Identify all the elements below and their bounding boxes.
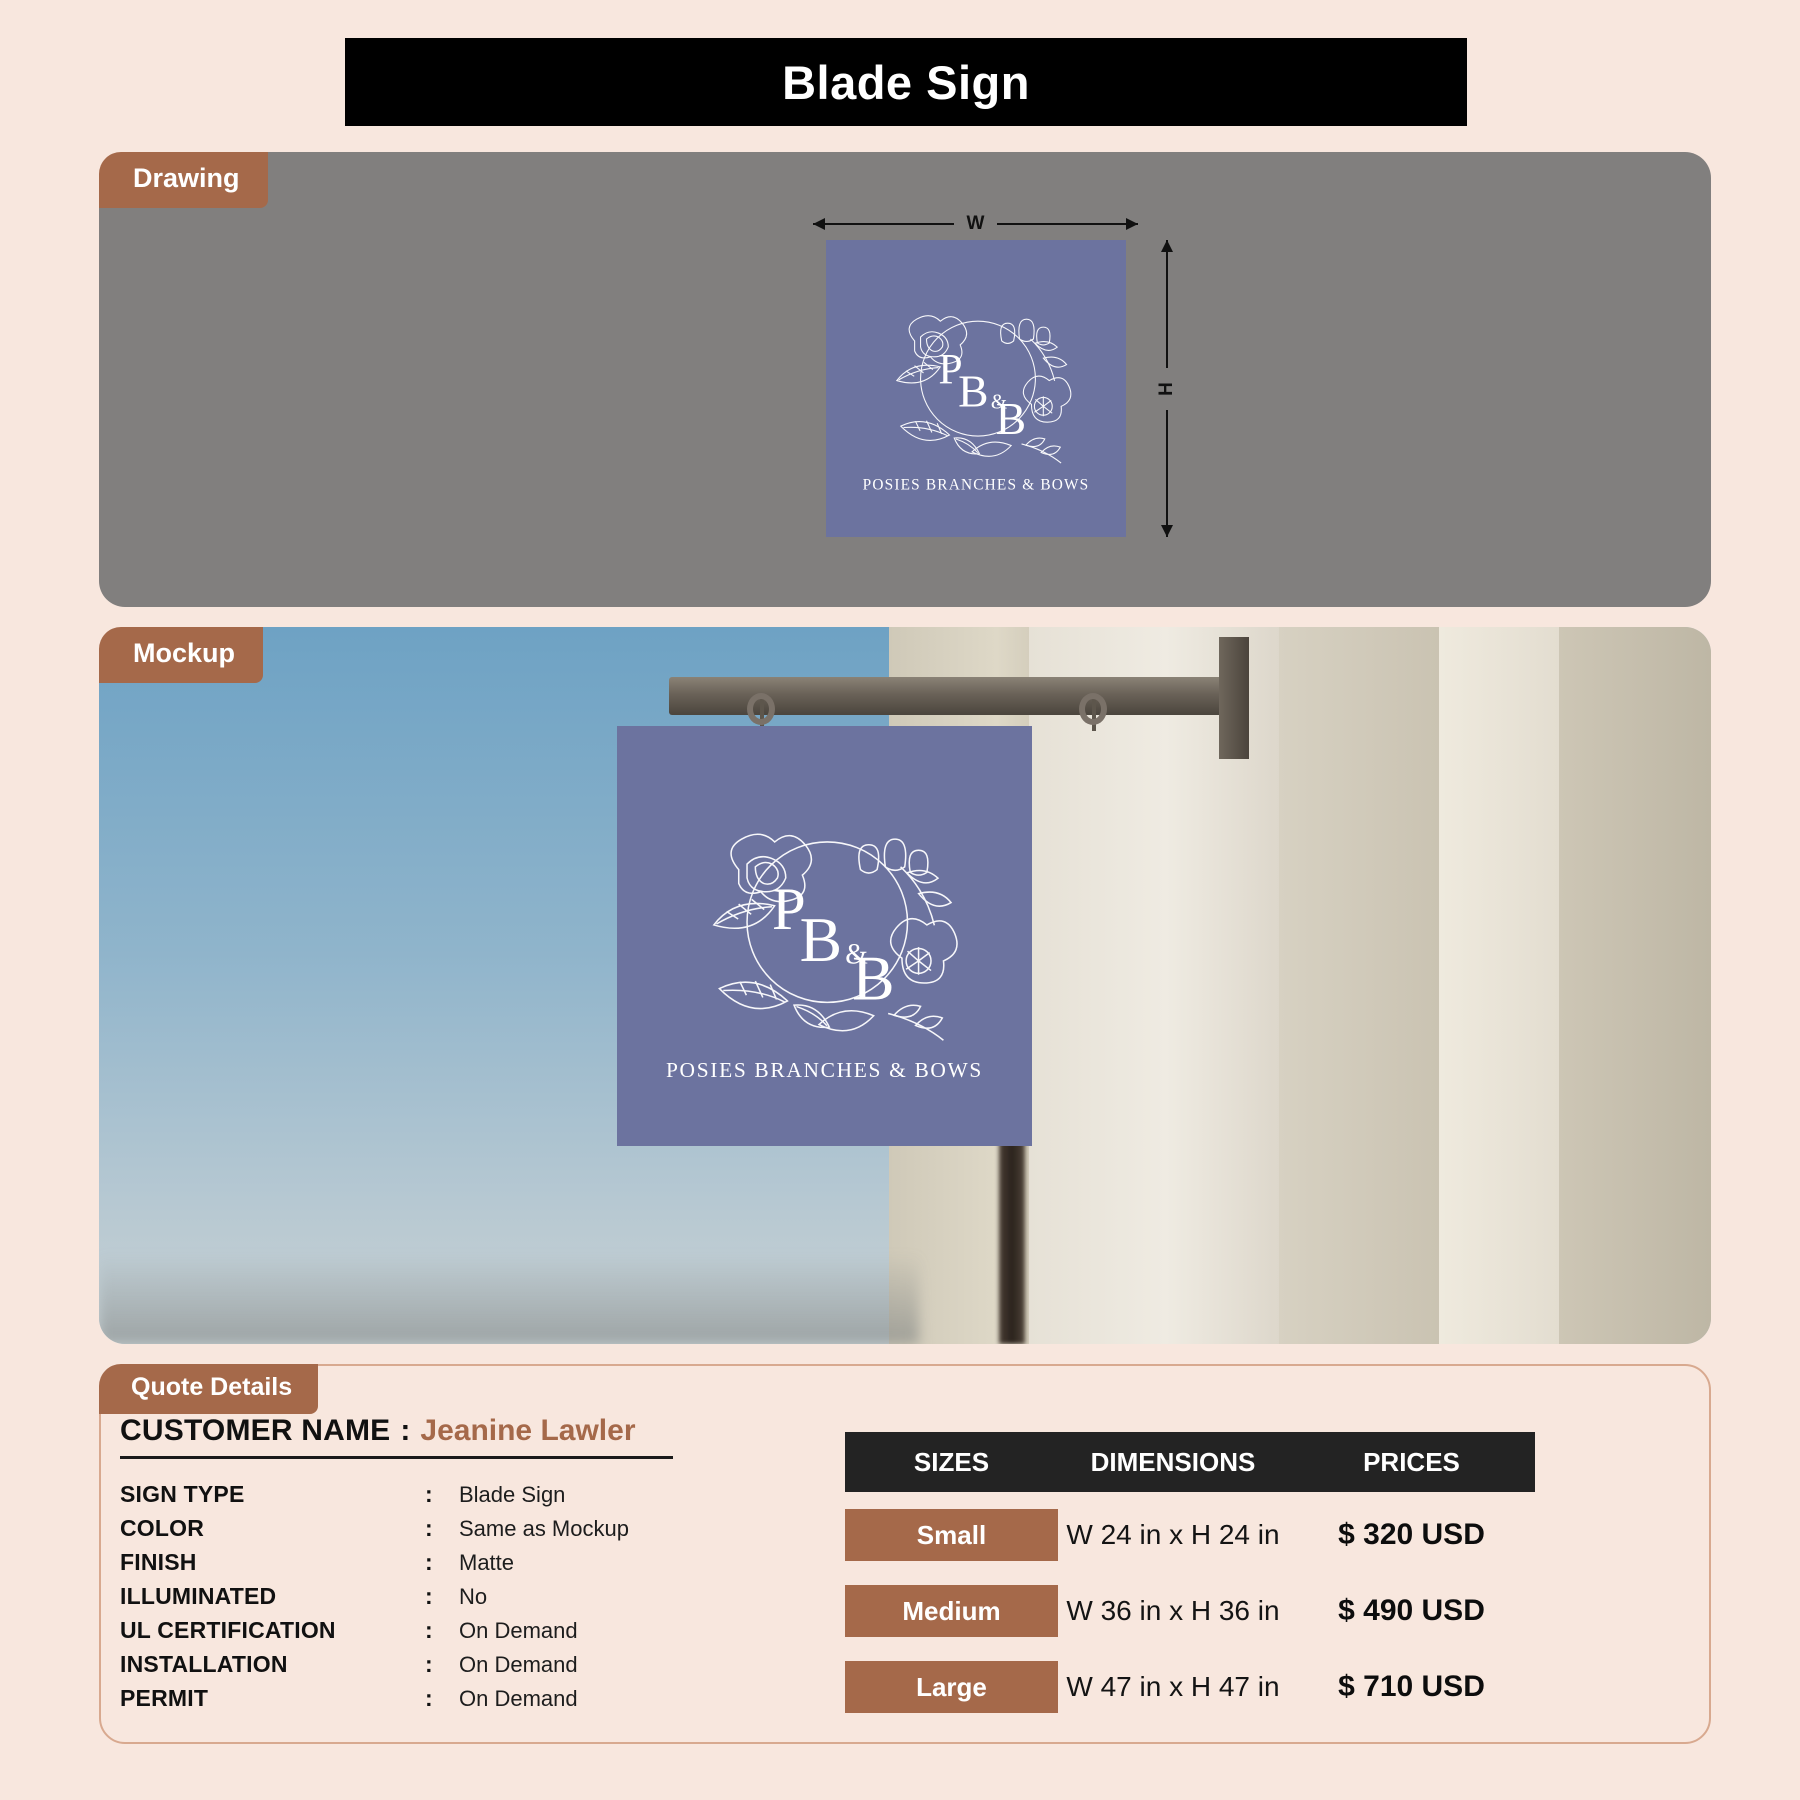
size-chip-small: Small <box>845 1509 1058 1561</box>
section-tab-mockup: Mockup <box>99 627 263 683</box>
spec-row-finish: FINISH : Matte <box>120 1549 780 1583</box>
spec-colon: : <box>425 1583 459 1610</box>
spec-row-permit: PERMIT : On Demand <box>120 1685 780 1719</box>
logo-svg-mockup: P B & B POSIES BRANCHES & BOWS <box>617 726 1032 1146</box>
logo-wordmark-mockup: POSIES BRANCHES & BOWS <box>666 1058 983 1082</box>
customer-name-row: CUSTOMER NAME : Jeanine Lawler <box>120 1414 673 1459</box>
height-dimension: H <box>1154 240 1180 537</box>
spec-row-ul-certification: UL CERTIFICATION : On Demand <box>120 1617 780 1651</box>
logo-artwork: P B & B POSIES BRANCHES & BOWS <box>826 240 1126 537</box>
spec-value: Blade Sign <box>459 1482 565 1508</box>
spec-list: SIGN TYPE : Blade Sign COLOR : Same as M… <box>120 1481 780 1719</box>
spec-colon: : <box>425 1549 459 1576</box>
height-arrow-up <box>1166 240 1168 368</box>
header-prices: PRICES <box>1288 1447 1535 1478</box>
pricing-table: SIZES DIMENSIONS PRICES Small W 24 in x … <box>845 1432 1535 1720</box>
sign-artwork-drawing: P B & B POSIES BRANCHES & BOWS <box>826 240 1126 537</box>
dimensions-cell: W 36 in x H 36 in <box>1058 1595 1288 1627</box>
spec-key: UL CERTIFICATION <box>120 1617 425 1644</box>
hanging-ring-left <box>747 693 775 725</box>
customer-name-value: Jeanine Lawler <box>420 1414 635 1448</box>
spec-key: PERMIT <box>120 1685 425 1712</box>
width-label: W <box>954 213 998 235</box>
spec-colon: : <box>425 1651 459 1678</box>
width-arrow-right <box>997 223 1138 225</box>
table-row: Medium W 36 in x H 36 in $ 490 USD <box>845 1578 1535 1644</box>
spec-colon: : <box>425 1481 459 1508</box>
spec-value: On Demand <box>459 1652 578 1678</box>
customer-name-label: CUSTOMER NAME <box>120 1414 390 1448</box>
quote-spec-column: CUSTOMER NAME : Jeanine Lawler SIGN TYPE… <box>120 1414 780 1719</box>
building-wall-e <box>1559 627 1711 1344</box>
spec-key: ILLUMINATED <box>120 1583 425 1610</box>
monogram-b1: B <box>958 365 988 416</box>
page-title-bar: Blade Sign <box>345 38 1467 126</box>
width-arrow-left <box>813 223 954 225</box>
spec-colon: : <box>425 1617 459 1644</box>
page-title: Blade Sign <box>782 55 1030 110</box>
spec-row-sign-type: SIGN TYPE : Blade Sign <box>120 1481 780 1515</box>
price-cell: $ 710 USD <box>1288 1670 1535 1704</box>
drawing-panel: W <box>99 152 1711 607</box>
width-dimension: W <box>813 212 1138 236</box>
dimensions-cell: W 47 in x H 47 in <box>1058 1671 1288 1703</box>
quote-sheet: Blade Sign Drawing W <box>0 0 1800 1800</box>
header-dimensions: DIMENSIONS <box>1058 1447 1288 1478</box>
monogram-b1-mockup: B <box>800 904 842 975</box>
size-chip-medium: Medium <box>845 1585 1058 1637</box>
logo-svg: P B & B POSIES BRANCHES & BOWS <box>826 240 1126 537</box>
size-chip-large: Large <box>845 1661 1058 1713</box>
ground-blur <box>99 1254 919 1344</box>
mockup-panel: P B & B POSIES BRANCHES & BOWS <box>99 627 1711 1344</box>
spec-value: Same as Mockup <box>459 1516 629 1542</box>
building-wall-d <box>1439 627 1559 1344</box>
building-wall-c <box>1279 627 1439 1344</box>
drawing-stage: W <box>99 152 1711 607</box>
height-label: H <box>1146 382 1188 396</box>
spec-key: COLOR <box>120 1515 425 1542</box>
sign-bracket-wall-plate <box>1219 637 1249 759</box>
header-sizes: SIZES <box>845 1447 1058 1478</box>
monogram-b2: B <box>996 393 1026 444</box>
spec-row-illuminated: ILLUMINATED : No <box>120 1583 780 1617</box>
mockup-scene: P B & B POSIES BRANCHES & BOWS <box>99 627 1711 1344</box>
sign-artwork-mockup: P B & B POSIES BRANCHES & BOWS <box>617 726 1032 1146</box>
spec-value: Matte <box>459 1550 514 1576</box>
height-arrow-down <box>1166 410 1168 538</box>
spec-row-color: COLOR : Same as Mockup <box>120 1515 780 1549</box>
spec-key: FINISH <box>120 1549 425 1576</box>
spec-value: On Demand <box>459 1618 578 1644</box>
spec-key: SIGN TYPE <box>120 1481 425 1508</box>
section-tab-drawing: Drawing <box>99 152 268 208</box>
dimensions-cell: W 24 in x H 24 in <box>1058 1519 1288 1551</box>
logo-wordmark: POSIES BRANCHES & BOWS <box>863 476 1090 493</box>
spec-colon: : <box>425 1515 459 1542</box>
section-tab-quote-details: Quote Details <box>99 1364 318 1414</box>
price-cell: $ 490 USD <box>1288 1594 1535 1628</box>
monogram-b2-mockup: B <box>852 943 894 1014</box>
spec-value: No <box>459 1584 487 1610</box>
customer-name-colon: : <box>400 1414 410 1448</box>
spec-value: On Demand <box>459 1686 578 1712</box>
pricing-table-header: SIZES DIMENSIONS PRICES <box>845 1432 1535 1492</box>
price-cell: $ 320 USD <box>1288 1518 1535 1552</box>
table-row: Large W 47 in x H 47 in $ 710 USD <box>845 1654 1535 1720</box>
spec-colon: : <box>425 1685 459 1712</box>
hanging-ring-right <box>1079 693 1107 725</box>
spec-row-installation: INSTALLATION : On Demand <box>120 1651 780 1685</box>
logo-artwork-mockup: P B & B POSIES BRANCHES & BOWS <box>617 726 1032 1146</box>
table-row: Small W 24 in x H 24 in $ 320 USD <box>845 1502 1535 1568</box>
spec-key: INSTALLATION <box>120 1651 425 1678</box>
